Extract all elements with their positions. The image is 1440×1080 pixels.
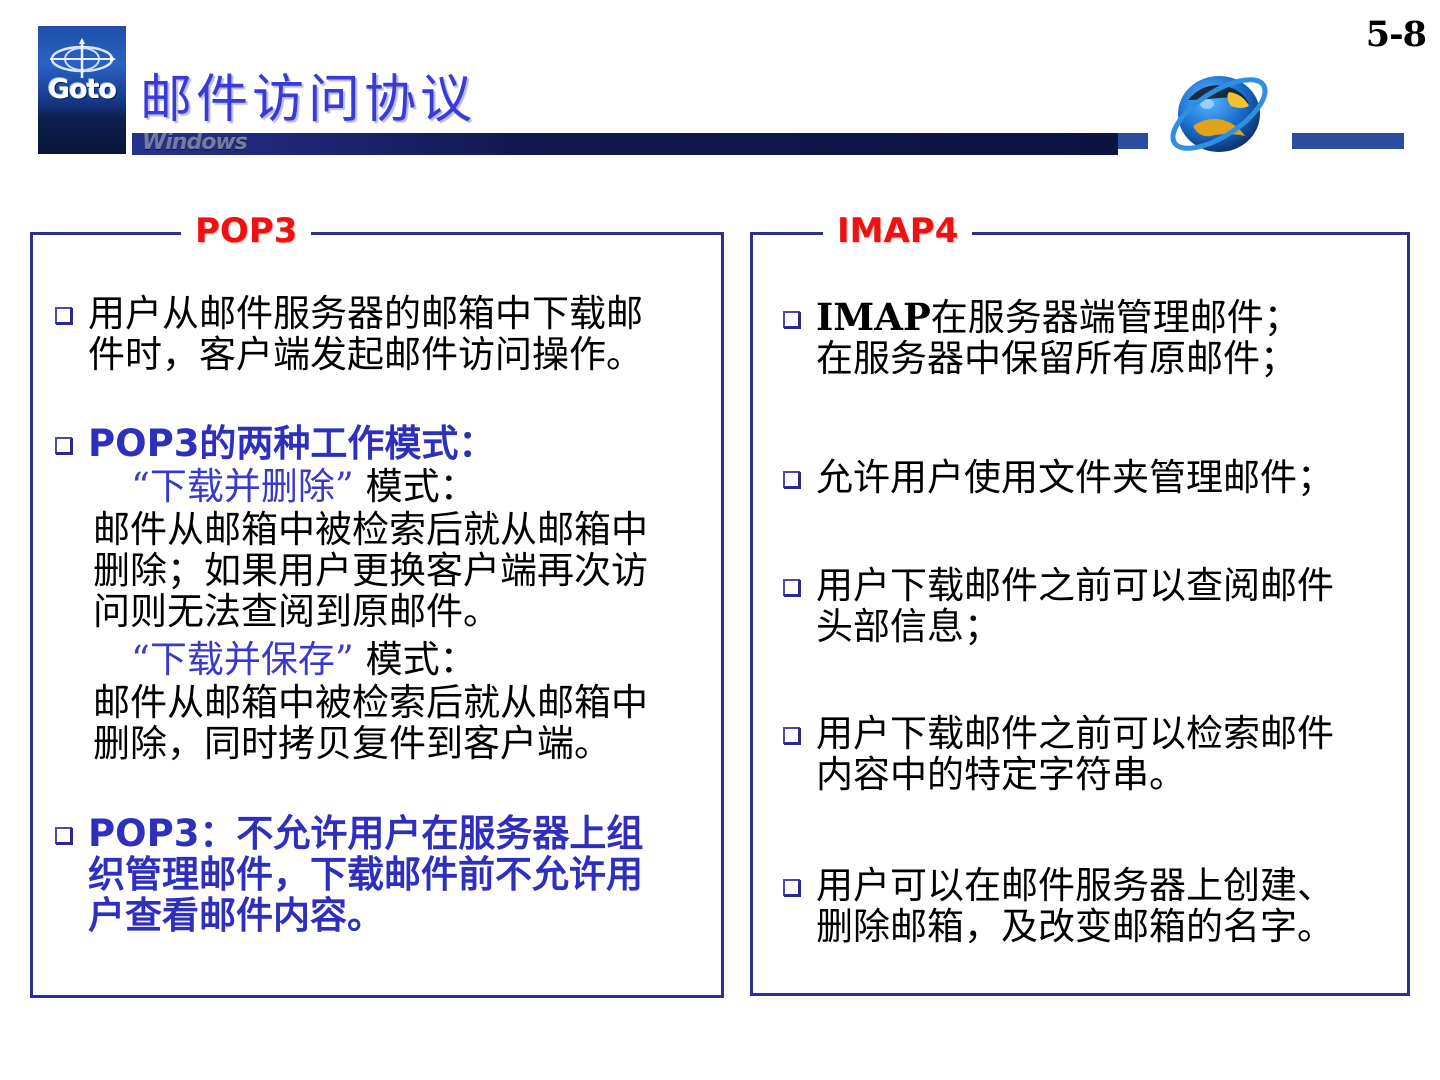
title-underline-bar: Windows — [132, 133, 1118, 155]
square-bullet-icon — [783, 727, 800, 744]
brand-logo: Goto — [38, 26, 126, 154]
square-bullet-icon — [783, 579, 800, 596]
list-item: 用户从邮件服务器的邮箱中下载邮 件时，客户端发起邮件访问操作。 — [55, 293, 705, 375]
header-rule-right — [1292, 133, 1404, 149]
square-bullet-icon — [55, 437, 72, 454]
slide-page-number: 5-8 — [1366, 14, 1426, 55]
list-item: 用户下载邮件之前可以检索邮件 内容中的特定字符串。 — [783, 713, 1383, 795]
list-item-label: 用户可以在邮件服务器上创建、 删除邮箱，及改变邮箱的名字。 — [816, 865, 1334, 947]
list-item-label: 用户下载邮件之前可以查阅邮件 头部信息； — [816, 565, 1334, 647]
pop3-mode-1-suffix: 模式： — [354, 465, 477, 508]
slide-header: Goto 邮件访问协议 Windows 5-8 — [0, 0, 1440, 200]
square-bullet-icon — [783, 879, 800, 896]
square-bullet-icon — [783, 471, 800, 488]
internet-globe-icon — [1163, 52, 1275, 172]
list-item: 用户可以在邮件服务器上创建、 删除邮箱，及改变邮箱的名字。 — [783, 865, 1383, 947]
list-item: 允许用户使用文件夹管理邮件； — [783, 457, 1393, 498]
page-title: 邮件访问协议 — [140, 57, 476, 132]
list-item-label: IMAP在服务器端管理邮件； 在服务器中保留所有原邮件； — [816, 297, 1301, 379]
pop3-mode-2-suffix: 模式： — [354, 638, 477, 681]
pop3-panel: POP3 用户从邮件服务器的邮箱中下载邮 件时，客户端发起邮件访问操作。 POP… — [30, 232, 724, 998]
pop3-mode-1-body: 邮件从邮箱中被检索后就从邮箱中 删除；如果用户更换客户端再次访 问则无法查阅到原… — [93, 509, 733, 632]
list-item: 用户下载邮件之前可以查阅邮件 头部信息； — [783, 565, 1383, 647]
list-item-label: 允许用户使用文件夹管理邮件； — [816, 457, 1334, 498]
windows-watermark-text: Windows — [142, 133, 247, 155]
list-item-label: POP3的两种工作模式： — [88, 423, 495, 464]
list-item: POP3的两种工作模式： — [55, 423, 705, 464]
list-item-label: 用户从邮件服务器的邮箱中下载邮 件时，客户端发起邮件访问操作。 — [88, 293, 643, 375]
pop3-bullet-list: 用户从邮件服务器的邮箱中下载邮 件时，客户端发起邮件访问操作。 POP3的两种工… — [33, 235, 721, 995]
list-item-label: POP3：不允许用户在服务器上组 织管理邮件，下载邮件前不允许用 户查看邮件内容… — [88, 813, 643, 936]
pop3-mode-2-title: “下载并保存” 模式： — [131, 639, 731, 680]
square-bullet-icon — [783, 311, 800, 328]
imap4-panel: IMAP4 IMAP在服务器端管理邮件； 在服务器中保留所有原邮件； 允许用户使… — [750, 232, 1410, 996]
header-rule-left — [1118, 133, 1148, 149]
imap4-keyword: IMAP — [816, 295, 931, 339]
list-item: IMAP在服务器端管理邮件； 在服务器中保留所有原邮件； — [783, 297, 1383, 379]
pop3-mode-1-quoted: “下载并删除” — [131, 465, 354, 508]
pop3-mode-1-title: “下载并删除” 模式： — [131, 466, 731, 507]
list-item: POP3：不允许用户在服务器上组 织管理邮件，下载邮件前不允许用 户查看邮件内容… — [55, 813, 705, 936]
logo-wordmark: Goto — [38, 74, 126, 105]
square-bullet-icon — [55, 307, 72, 324]
list-item-label: 用户下载邮件之前可以检索邮件 内容中的特定字符串。 — [816, 713, 1334, 795]
square-bullet-icon — [55, 827, 72, 844]
pop3-mode-2-quoted: “下载并保存” — [131, 638, 354, 681]
imap4-bullet-list: IMAP在服务器端管理邮件； 在服务器中保留所有原邮件； 允许用户使用文件夹管理… — [753, 235, 1407, 993]
pop3-mode-2-body: 邮件从邮箱中被检索后就从邮箱中 删除，同时拷贝复件到客户端。 — [93, 682, 733, 764]
